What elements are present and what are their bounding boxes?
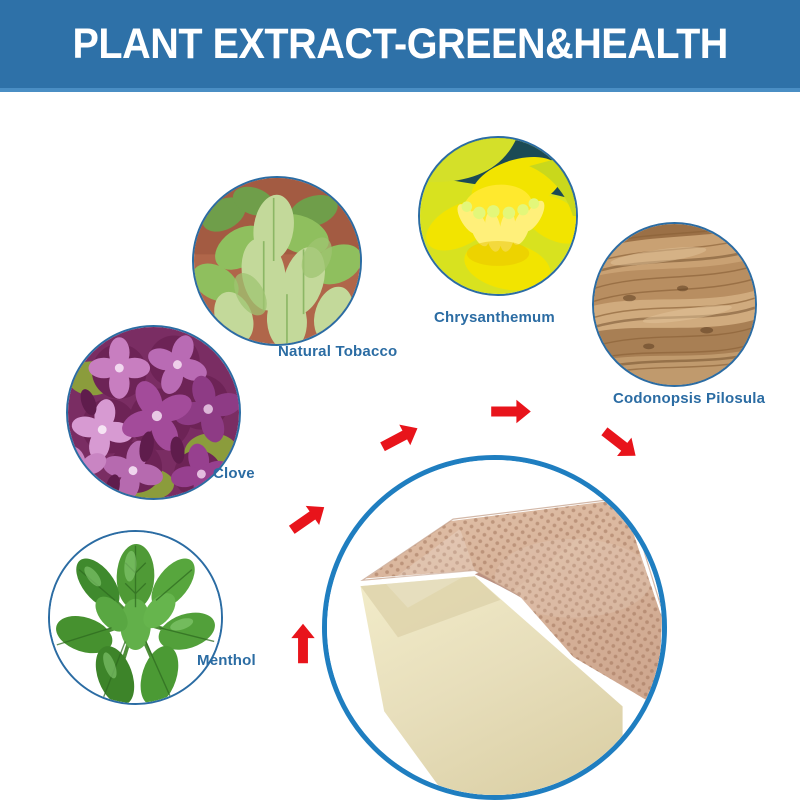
ingredient-label-codonopsis-pilosula: Codonopsis Pilosula [613,390,765,407]
arrow-to-chrysanthemum [489,398,533,425]
ingredient-label-natural-tobacco: Natural Tobacco [278,343,397,360]
medicated-patch-icon [327,460,662,795]
chrysanthemum-flower-photo-icon [420,138,576,294]
page-title: PLANT EXTRACT-GREEN&HEALTH [72,23,727,66]
arrow-icon [489,398,533,425]
header-banner: PLANT EXTRACT-GREEN&HEALTH [0,0,800,88]
ingredient-label-menthol: Menthol [197,652,256,669]
center-product-circle [322,455,667,800]
arrow-icon [282,495,334,542]
arrow-to-tobacco [374,415,426,459]
arrow-to-codonopsis [594,419,645,467]
arrow-icon [374,415,426,459]
infographic-canvas: PLANT EXTRACT-GREEN&HEALTH [0,0,800,800]
ingredient-circle-menthol[interactable] [48,530,223,705]
tobacco-leaves-photo-icon [194,178,360,344]
arrow-icon [290,622,317,666]
ingredient-label-clove: Clove [213,465,255,482]
ingredient-label-chrysanthemum: Chrysanthemum [434,309,555,326]
codonopsis-root-photo-icon [594,224,755,385]
ingredient-circle-codonopsis-pilosula[interactable] [592,222,757,387]
ingredient-circle-natural-tobacco[interactable] [192,176,362,346]
ingredient-circle-chrysanthemum[interactable] [418,136,578,296]
arrow-icon [594,419,645,467]
menthol-mint-leaves-photo-icon [50,532,221,703]
arrow-to-menthol [290,622,317,666]
arrow-to-clove [282,495,334,542]
header-underline [0,88,800,92]
